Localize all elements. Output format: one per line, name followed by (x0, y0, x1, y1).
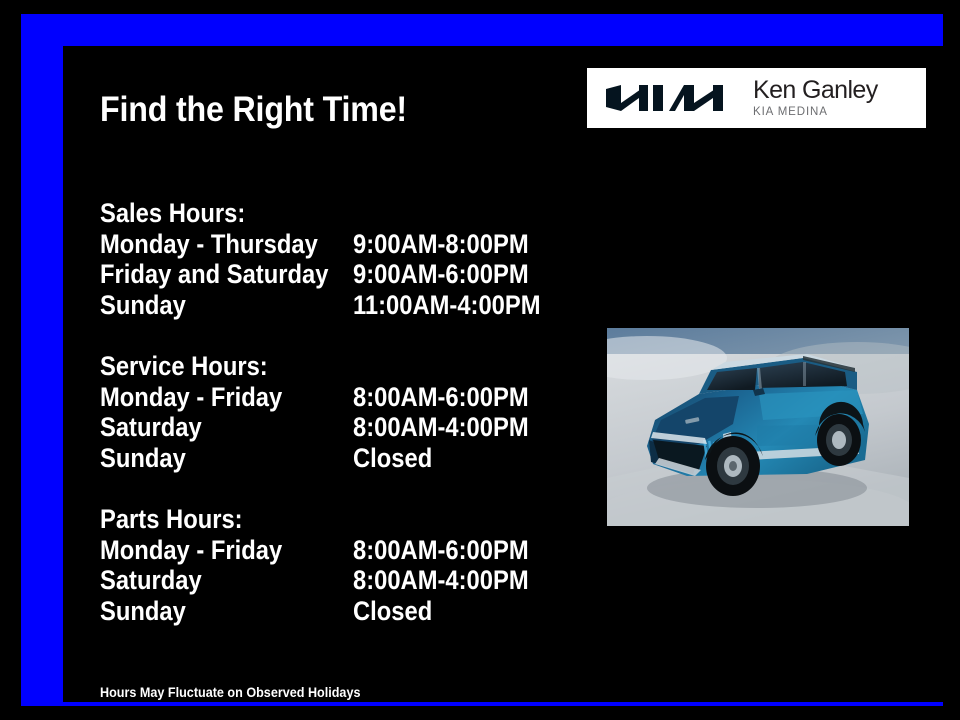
hours-row: Sunday Closed (100, 596, 262, 627)
kia-logo-icon (601, 82, 729, 114)
kia-ev9-suv-photo (607, 328, 909, 526)
hours-row-time: 11:00AM-4:00PM (353, 290, 541, 321)
hours-row: Sunday 11:00AM-4:00PM (100, 290, 265, 321)
hours-row-day: Friday and Saturday (100, 259, 328, 290)
slide: Find the Right Time! Sales Hours: Monday… (0, 0, 960, 720)
hours-row-time: 9:00AM-6:00PM (353, 259, 529, 290)
hours-row-day: Monday - Friday (100, 535, 282, 566)
hours-row: Sunday Closed (100, 443, 291, 474)
hours-row-day: Sunday (100, 290, 186, 321)
hours-row-day: Sunday (100, 596, 186, 627)
holiday-disclaimer: Hours May Fluctuate on Observed Holidays (100, 684, 360, 700)
hours-row-time: Closed (353, 443, 432, 474)
hours-row-day: Saturday (100, 412, 202, 443)
hours-row-time: 9:00AM-8:00PM (353, 229, 529, 260)
hours-row: Monday - Friday 8:00AM-6:00PM (100, 535, 262, 566)
hours-row: Monday - Thursday 9:00AM-8:00PM (100, 229, 265, 260)
dealer-logo-lockup: Ken Ganley KIA MEDINA (587, 68, 926, 128)
hours-row-day: Sunday (100, 443, 186, 474)
hours-block-title: Sales Hours: (100, 198, 245, 229)
hours-row-time: 8:00AM-6:00PM (353, 535, 529, 566)
dealer-subtitle: KIA MEDINA (753, 107, 912, 119)
hours-block-title: Service Hours: (100, 351, 268, 382)
hours-row-time: 8:00AM-6:00PM (353, 382, 529, 413)
dealer-name: Ken Ganley (753, 78, 912, 103)
hours-row-time: 8:00AM-4:00PM (353, 565, 529, 596)
hours-row-day: Monday - Friday (100, 382, 282, 413)
hours-row-time: 8:00AM-4:00PM (353, 412, 529, 443)
hours-block-title: Parts Hours: (100, 504, 243, 535)
page-title: Find the Right Time! (100, 90, 407, 130)
slide-blue-border: Find the Right Time! Sales Hours: Monday… (21, 14, 943, 706)
hours-block-service: Service Hours: Monday - Friday 8:00AM-6:… (100, 351, 291, 473)
hours-row-day: Saturday (100, 565, 202, 596)
hours-row: Saturday 8:00AM-4:00PM (100, 565, 262, 596)
hours-row: Friday and Saturday 9:00AM-6:00PM (100, 259, 265, 290)
hours-block-sales: Sales Hours: Monday - Thursday 9:00AM-8:… (100, 198, 265, 320)
hours-row-time: Closed (353, 596, 432, 627)
slide-content-area: Find the Right Time! Sales Hours: Monday… (63, 46, 943, 702)
hours-row: Monday - Friday 8:00AM-6:00PM (100, 382, 291, 413)
hours-row: Saturday 8:00AM-4:00PM (100, 412, 291, 443)
hours-block-parts: Parts Hours: Monday - Friday 8:00AM-6:00… (100, 504, 262, 626)
hours-row-day: Monday - Thursday (100, 229, 318, 260)
dealer-name-group: Ken Ganley KIA MEDINA (753, 78, 912, 119)
